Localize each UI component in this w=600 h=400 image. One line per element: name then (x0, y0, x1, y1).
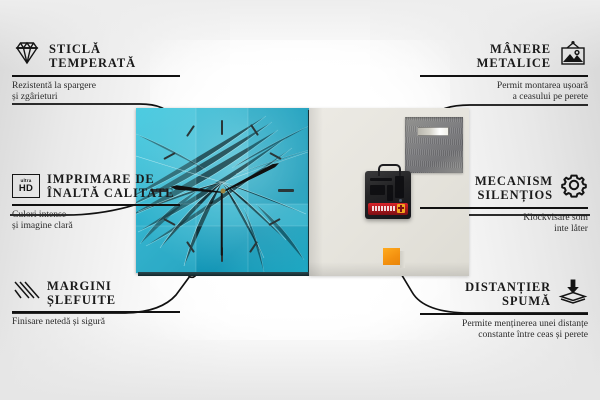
feature-metal-handles: MÂNERE METALICE Permit montarea ușoară a… (412, 40, 588, 103)
mechanism-hook (378, 164, 401, 176)
clock-tick-12 (221, 120, 223, 135)
hanging-picture-icon (558, 40, 588, 71)
ultra-hd-large-text: HD (19, 184, 33, 194)
metal-hanger-plate (405, 117, 463, 173)
feature-subtitle: Klockvisare som inte låter (412, 212, 588, 235)
feature-title: MARGINI ȘLEFUITE (47, 279, 116, 307)
clock-hands-hub (220, 188, 225, 193)
feature-subtitle: Rezistentă la spargere și zgârieturi (12, 80, 188, 103)
feature-divider (12, 204, 180, 206)
battery-label (372, 206, 396, 211)
mechanism-rib (387, 185, 393, 201)
feature-divider (420, 207, 588, 209)
panel-shadow-left (309, 108, 323, 276)
feature-divider (420, 75, 588, 77)
feature-subtitle: Permit montarea ușoară a ceasului pe per… (412, 80, 588, 103)
feature-subtitle: Finisare netedă și sigură (12, 316, 188, 328)
clock-tick-3 (278, 189, 294, 192)
feature-title: DISTANȚIER SPUMĂ (465, 280, 551, 308)
arrow-down-layers-icon (558, 278, 588, 309)
mechanism-rib (370, 185, 385, 195)
mechanism-contact (399, 199, 402, 202)
ultra-hd-icon: ultra HD (12, 174, 40, 198)
diamond-icon (12, 40, 42, 71)
hanger-slot (417, 127, 449, 136)
clock-second-hand (221, 191, 223, 255)
feature-tempered-glass: STICLĂ TEMPERATĂ Rezistentă la spargere … (12, 40, 188, 103)
feature-high-quality-print: ultra HD IMPRIMARE DE ÎNALTĂ CALITATE Cu… (12, 172, 188, 232)
feature-silent-mechanism: MECANISM SILENȚIOS Klockvisare som inte … (412, 172, 588, 235)
feature-divider (12, 311, 180, 313)
mechanism-rib (395, 176, 404, 198)
feature-polished-edges: MARGINI ȘLEFUITE Finisare netedă și sigu… (12, 278, 188, 327)
foam-spacer-side (400, 251, 405, 268)
feature-subtitle: Culori intense și imagine clară (12, 209, 188, 232)
feature-divider (420, 313, 588, 315)
silent-quartz-mechanism (365, 171, 411, 219)
feature-title: IMPRIMARE DE ÎNALTĂ CALITATE (47, 172, 175, 200)
feature-title: MECANISM SILENȚIOS (475, 174, 553, 202)
feature-subtitle: Permite menținerea unei distanțe constan… (412, 318, 588, 341)
mechanism-rib (370, 178, 392, 181)
feature-title: STICLĂ TEMPERATĂ (49, 42, 136, 70)
gear-icon (560, 172, 588, 203)
feature-divider (12, 75, 180, 77)
mechanism-battery (368, 203, 408, 215)
feature-foam-spacer: DISTANȚIER SPUMĂ Permite menținerea unei… (412, 278, 588, 341)
foam-spacer-piece (383, 248, 400, 265)
feature-title: MÂNERE METALICE (477, 42, 551, 70)
battery-plus-terminal (397, 204, 405, 213)
clock-glass-bottom-edge (138, 272, 311, 276)
product-infographic: STICLĂ TEMPERATĂ Rezistentă la spargere … (0, 0, 600, 400)
diagonal-lines-icon (12, 278, 40, 307)
